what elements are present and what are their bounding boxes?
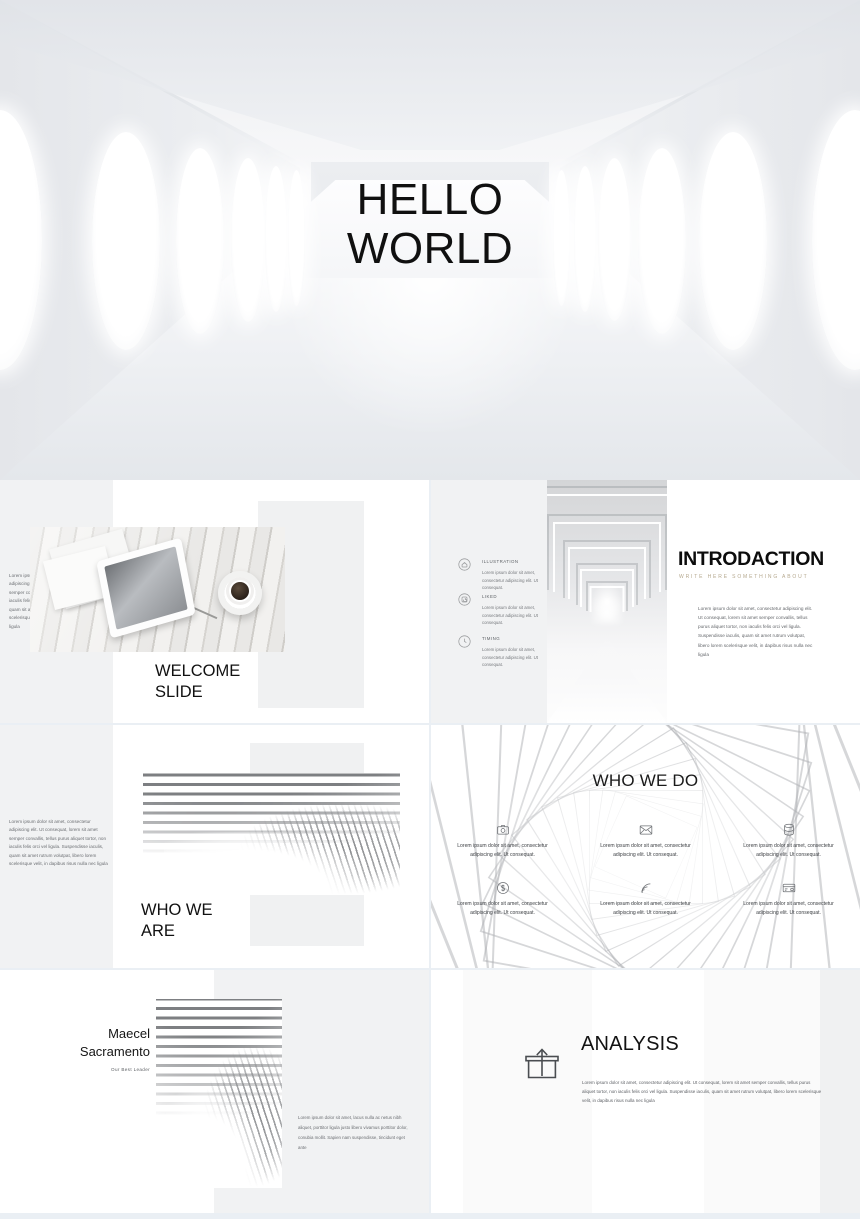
analysis-stripe-1: [463, 970, 592, 1213]
slide-analysis[interactable]: ANALYSIS Lorem ipsum dolor sit amet, con…: [431, 970, 860, 1213]
who-we-are-caption: WHO WE ARE: [141, 900, 213, 942]
slide-introdaction[interactable]: ILLUSTRATION Lorem ipsum dolor sit amet,…: [431, 480, 860, 723]
clock-icon: [458, 635, 471, 648]
hero-title-line1: HELLO: [0, 175, 860, 224]
who-we-do-item[interactable]: Lorem ipsum dolor sit amet, consectetur …: [431, 881, 574, 919]
who-we-are-caption-line1: WHO WE: [141, 900, 213, 921]
hero-title-line2: WORLD: [0, 224, 860, 273]
feature-label: ILLUSTRATION: [482, 559, 519, 564]
wifi-signal-icon: [639, 881, 653, 895]
feature-text: Lorem ipsum dolor sit amet, consectetur …: [482, 646, 544, 669]
leader-name-line2: Sacramento: [14, 1043, 150, 1061]
who-we-do-title: WHO WE DO: [431, 771, 860, 791]
who-we-do-row-1: Lorem ipsum dolor sit amet, consectetur …: [431, 823, 860, 861]
who-we-do-item-text: Lorem ipsum dolor sit amet, consectetur …: [447, 900, 558, 919]
introdaction-body: Lorem ipsum dolor sit amet, consectetur …: [698, 604, 816, 659]
slide-who-we-do[interactable]: WHO WE DO Lorem ipsum dolor sit amet, co…: [431, 725, 860, 968]
leader-name: Maecel Sacramento: [14, 1025, 150, 1060]
like-icon: [458, 593, 471, 606]
feature-label: TIMING: [482, 636, 500, 641]
slide-who-we-are[interactable]: Lorem ipsum dolor sit amet, consectetur …: [0, 725, 429, 968]
camera-icon: [496, 823, 510, 837]
slide-welcome[interactable]: Lorem ipsum dolor sit amet, consectetur …: [0, 480, 429, 723]
hero-title: HELLO WORLD: [0, 175, 860, 274]
welcome-caption-line2: SLIDE: [155, 682, 240, 703]
who-we-do-item-text: Lorem ipsum dolor sit amet, consectetur …: [590, 842, 701, 861]
feature-text: Lorem ipsum dolor sit amet, consectetur …: [482, 569, 544, 592]
analysis-body: Lorem ipsum dolor sit amet, consectetur …: [582, 1078, 824, 1106]
upload-box-icon: [522, 1046, 562, 1084]
hero-banner: HELLO WORLD: [0, 0, 860, 480]
who-we-are-side-text: Lorem ipsum dolor sit amet, consectetur …: [9, 818, 108, 869]
who-we-do-item[interactable]: Lorem ipsum dolor sit amet, consectetur …: [431, 823, 574, 861]
slide-grid: Lorem ipsum dolor sit amet, consectetur …: [0, 480, 860, 1219]
who-we-do-item-text: Lorem ipsum dolor sit amet, consectetur …: [590, 900, 701, 919]
database-icon: [782, 823, 796, 837]
home-icon: [458, 558, 471, 571]
introdaction-subtitle: WRITE HERE SOMETHING ABOUT: [679, 574, 809, 580]
feature-label: LIKED: [482, 594, 497, 599]
leader-name-line1: Maecel: [14, 1025, 150, 1043]
photo-coffee-cup: [218, 571, 262, 615]
who-we-do-item-text: Lorem ipsum dolor sit amet, consectetur …: [733, 900, 844, 919]
presentation-preview-page: HELLO WORLD Lorem ipsum dolor sit amet, …: [0, 0, 860, 1219]
feature-text: Lorem ipsum dolor sit amet, consectetur …: [482, 604, 544, 627]
introdaction-title: INTRODACTION: [678, 548, 824, 571]
who-we-do-items: Lorem ipsum dolor sit amet, consectetur …: [431, 823, 860, 918]
who-we-do-item[interactable]: Lorem ipsum dolor sit amet, consectetur …: [717, 881, 860, 919]
who-we-are-image: [143, 773, 400, 895]
who-we-do-item[interactable]: Lorem ipsum dolor sit amet, consectetur …: [717, 823, 860, 861]
who-we-are-side-panel: Lorem ipsum dolor sit amet, consectetur …: [0, 725, 113, 968]
who-we-do-item[interactable]: Lorem ipsum dolor sit amet, consectetur …: [574, 881, 717, 919]
welcome-caption-line1: WELCOME: [155, 661, 240, 682]
analysis-stripe-3: [820, 970, 860, 1213]
introdaction-image: [547, 480, 667, 723]
slide-leader[interactable]: Maecel Sacramento Our Best Leader Lorem …: [0, 970, 429, 1213]
analysis-title: ANALYSIS: [581, 1033, 679, 1056]
dollar-coin-icon: [496, 881, 510, 895]
who-we-do-item[interactable]: Lorem ipsum dolor sit amet, consectetur …: [574, 823, 717, 861]
who-we-do-item-text: Lorem ipsum dolor sit amet, consectetur …: [733, 842, 844, 861]
welcome-photo: [30, 527, 285, 652]
who-we-do-row-2: Lorem ipsum dolor sit amet, consectetur …: [431, 881, 860, 919]
leader-role: Our Best Leader: [14, 1067, 150, 1072]
leader-image: [156, 999, 282, 1188]
corridor-floor-glow: [280, 278, 580, 438]
who-we-do-item-text: Lorem ipsum dolor sit amet, consectetur …: [447, 842, 558, 861]
envelope-icon: [639, 823, 653, 837]
welcome-caption: WELCOME SLIDE: [155, 661, 240, 703]
leader-body: Lorem ipsum dolor sit amet, lacus nulla …: [298, 1113, 408, 1154]
introdaction-side-panel: [431, 480, 547, 723]
who-we-are-caption-line2: ARE: [141, 921, 213, 942]
credit-card-icon: [782, 881, 796, 895]
